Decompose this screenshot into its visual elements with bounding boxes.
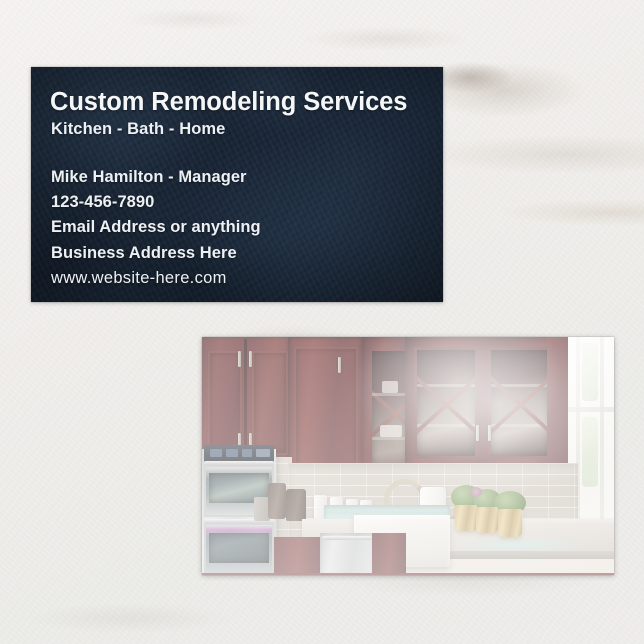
cabinet-handle bbox=[238, 351, 241, 367]
plant-flower bbox=[470, 487, 482, 497]
cabinet-handle bbox=[488, 425, 491, 441]
counter-canister bbox=[286, 489, 306, 521]
gold-planter-pot bbox=[455, 505, 477, 531]
gold-planter-pot bbox=[498, 509, 522, 537]
oven-display-segment bbox=[210, 449, 222, 457]
kitchen-photo bbox=[202, 337, 614, 575]
company-name: Custom Remodeling Services bbox=[50, 89, 443, 116]
contact-website: www.website-here.com bbox=[51, 266, 443, 291]
contact-email: Email Address or anything bbox=[51, 215, 443, 240]
contact-address: Business Address Here bbox=[51, 241, 443, 266]
oven-display-segment bbox=[242, 449, 252, 457]
dishwasher-handle bbox=[322, 536, 372, 540]
oven-control-panel bbox=[204, 445, 274, 462]
cabinet-panel bbox=[294, 347, 358, 471]
dishware bbox=[382, 381, 398, 393]
oven-display-segment bbox=[226, 449, 238, 457]
oven-display-segment bbox=[256, 449, 270, 457]
oven-window-lower bbox=[209, 533, 269, 563]
cabinet-handle bbox=[249, 351, 252, 367]
cabinet-panel bbox=[208, 351, 242, 455]
countertop-edge bbox=[442, 551, 614, 559]
lower-cabinet bbox=[372, 533, 406, 575]
glass-cabinet-pane bbox=[488, 347, 552, 459]
lower-cabinet bbox=[274, 537, 322, 575]
cabinet-handle bbox=[476, 425, 479, 441]
card-content: Custom Remodeling Services Kitchen - Bat… bbox=[31, 67, 443, 302]
gold-planter-pot bbox=[476, 507, 498, 533]
hardwood-floor bbox=[202, 573, 614, 575]
dishware bbox=[380, 425, 402, 437]
cabinet-panel bbox=[252, 351, 288, 455]
business-card-front[interactable]: Custom Remodeling Services Kitchen - Bat… bbox=[31, 67, 443, 302]
contact-phone: 123-456-7890 bbox=[51, 190, 443, 215]
glass-cabinet-pane bbox=[414, 347, 478, 459]
cabinet-door-seam bbox=[244, 339, 247, 459]
counter-canister bbox=[268, 483, 286, 519]
contact-block: Mike Hamilton - Manager 123-456-7890 Ema… bbox=[51, 165, 443, 290]
business-card-back[interactable] bbox=[202, 337, 614, 575]
card-tagline: Kitchen - Bath - Home bbox=[51, 118, 443, 140]
contact-name-title: Mike Hamilton - Manager bbox=[51, 165, 443, 190]
cabinet-handle bbox=[338, 357, 341, 373]
